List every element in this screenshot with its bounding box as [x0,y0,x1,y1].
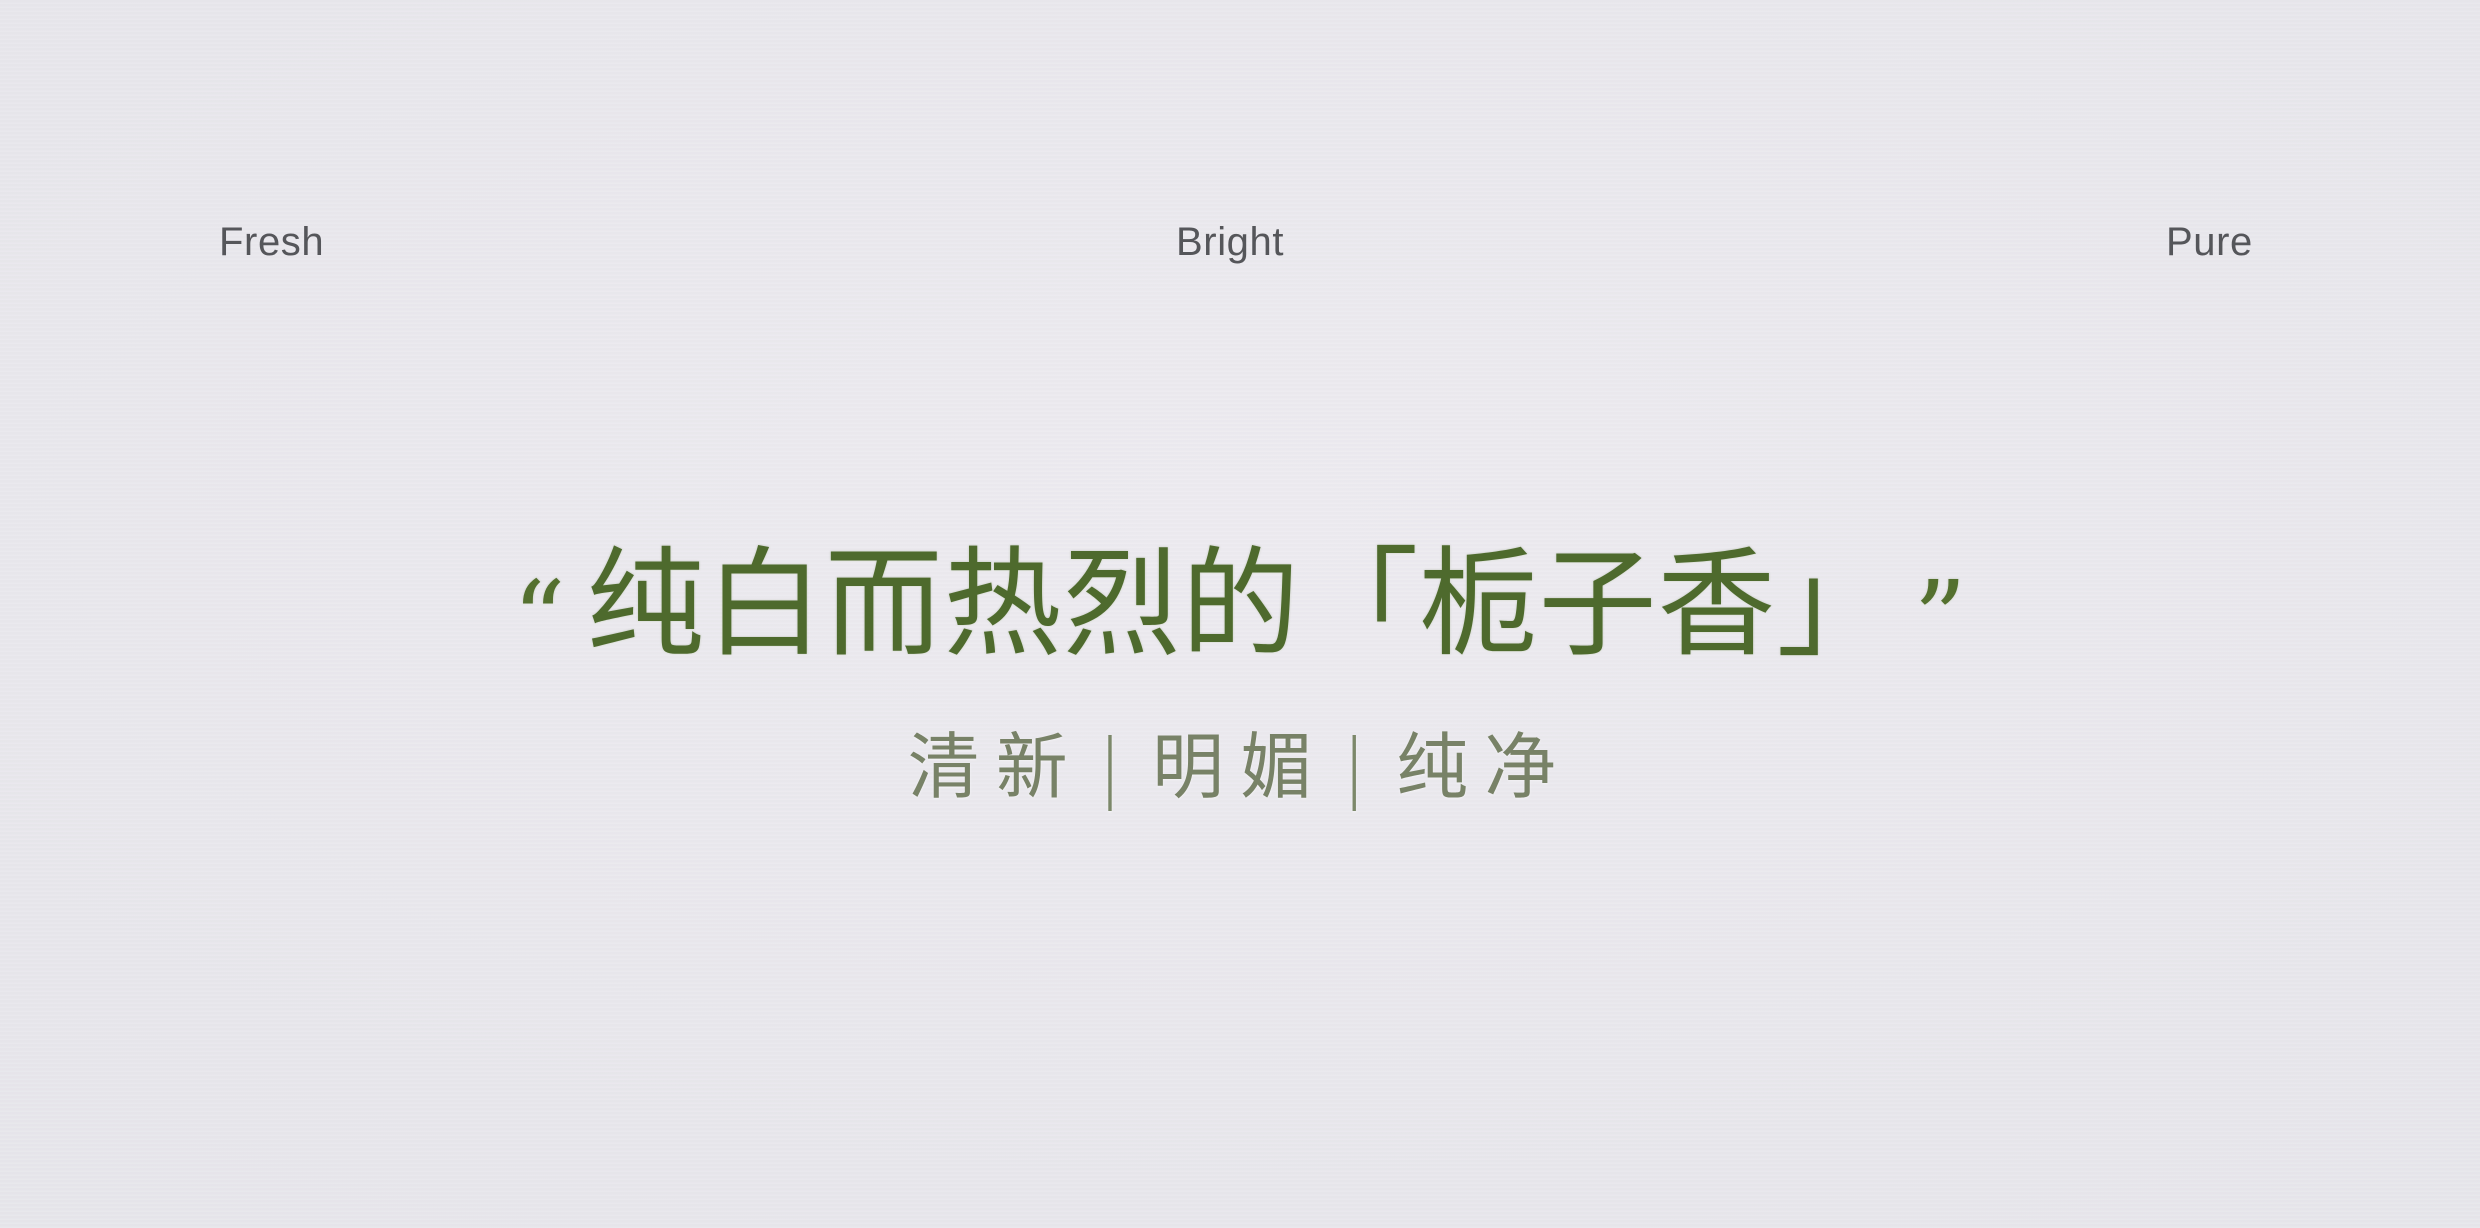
subline: 清新 | 明媚 | 纯净 [908,728,1573,807]
keyword-pure: Pure [2166,222,2253,262]
open-quote-mark: “ [512,567,566,671]
subline-divider-2: | [1342,727,1366,810]
headline: “ 纯白而热烈的「栀子香」 ” [512,538,1967,670]
keyword-bright: Bright [1176,222,1284,262]
subline-item-pure: 纯净 [1396,728,1572,807]
quote-block: “ 纯白而热烈的「栀子香」 ” 清新 | 明媚 | 纯净 [0,0,2480,1228]
slide-canvas: Fresh Bright Pure “ 纯白而热烈的「栀子香」 ” 清新 | 明… [0,0,2480,1228]
headline-text: 纯白而热烈的「栀子香」 [586,538,1895,670]
keyword-fresh: Fresh [219,222,324,262]
subline-item-bright: 明媚 [1152,728,1328,807]
subline-item-fresh: 清新 [908,728,1084,807]
keyword-strip: Fresh Bright Pure [0,206,2480,280]
close-quote-mark: ” [1914,567,1968,671]
subline-divider-1: | [1098,727,1122,810]
